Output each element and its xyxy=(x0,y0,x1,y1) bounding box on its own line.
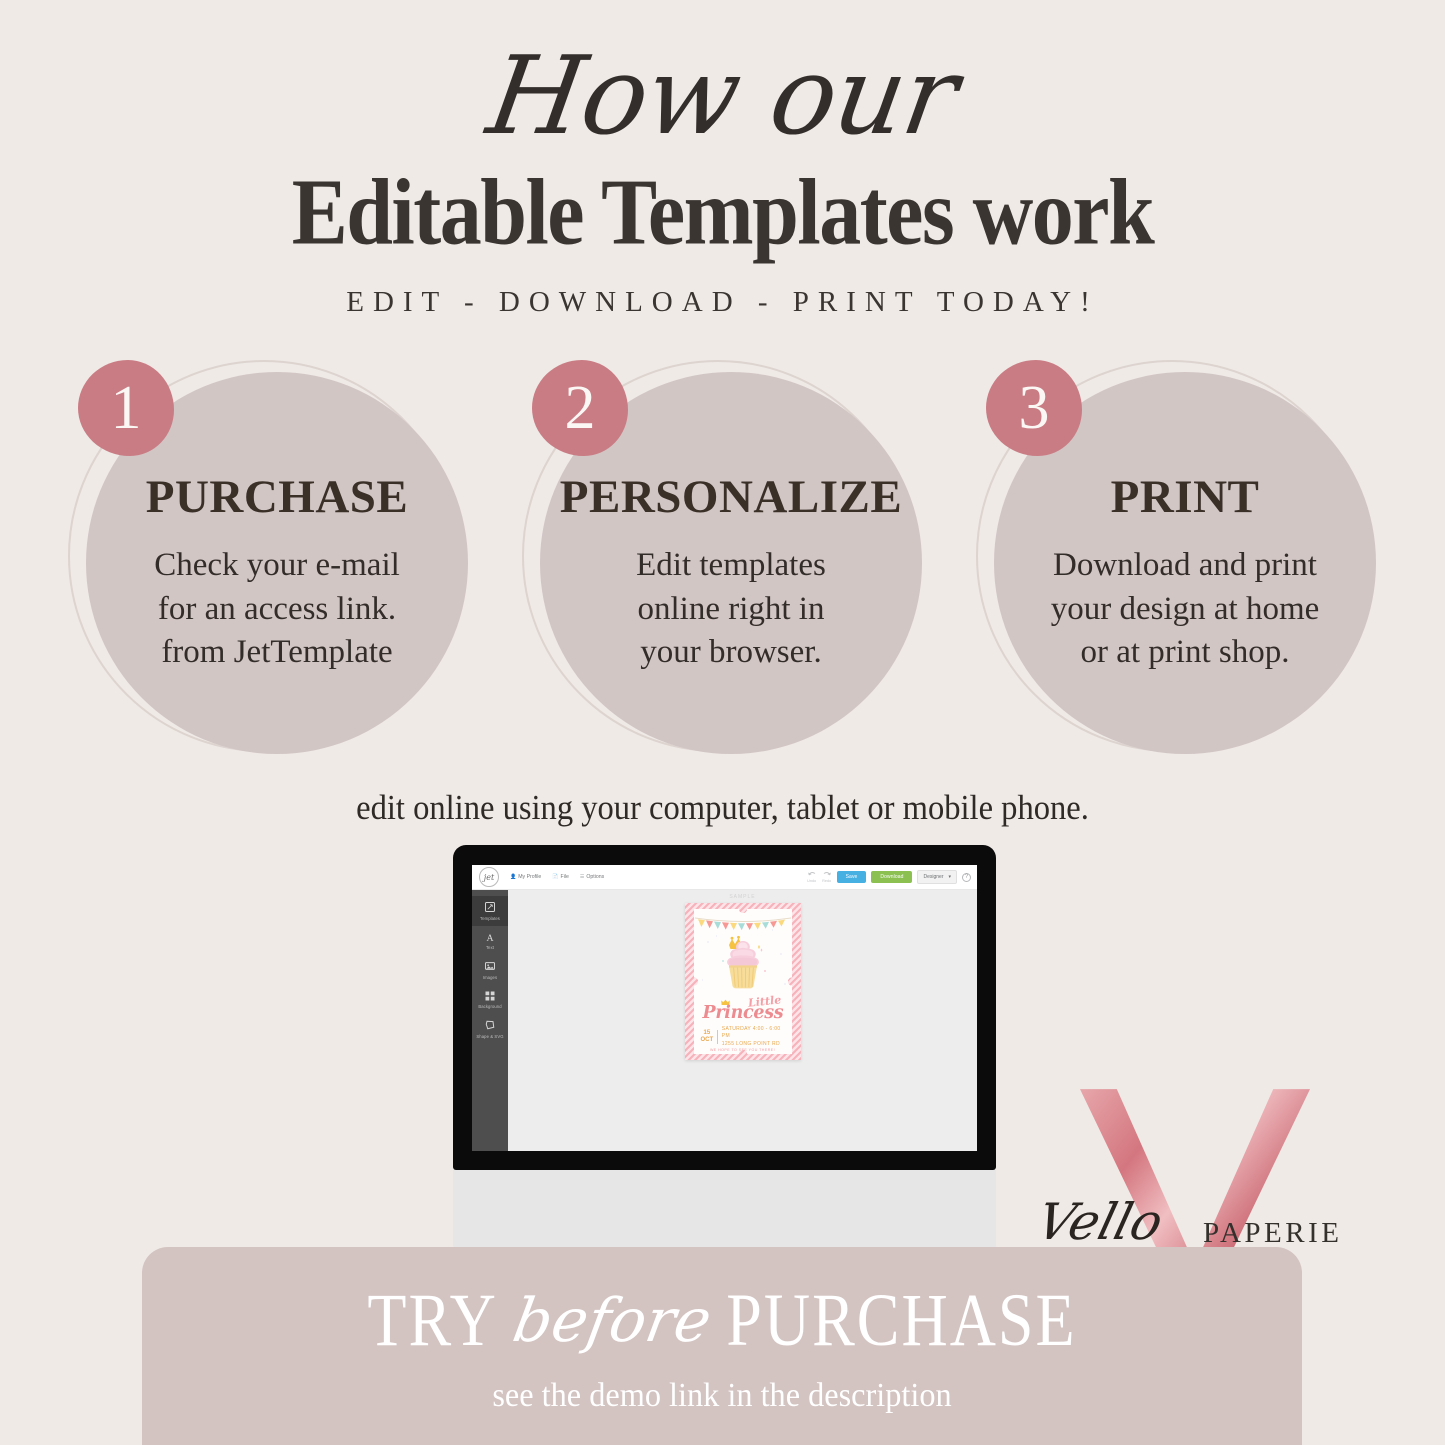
step-number-badge-1: 1 xyxy=(78,360,174,456)
step-description-2: Edit templates online right in your brow… xyxy=(636,544,826,675)
sidebar-label: Text xyxy=(486,945,494,950)
images-icon xyxy=(484,960,496,972)
step-desc-line: online right in xyxy=(636,588,826,632)
shape-svg-icon xyxy=(484,1019,496,1031)
page-title: Editable Templates work xyxy=(0,158,1445,267)
menu-label: File xyxy=(561,874,569,880)
bunting-icon xyxy=(694,916,792,932)
bottom-banner: TRY before PURCHASE see the demo link in… xyxy=(142,1247,1302,1445)
step-desc-line: or at print shop. xyxy=(1051,631,1320,675)
card-date: 15 OCT xyxy=(701,1030,714,1043)
help-icon[interactable]: ? xyxy=(962,873,971,882)
banner-part-b: before xyxy=(508,1286,717,1356)
sliders-icon: ☰ xyxy=(580,874,584,880)
step-desc-line: Check your e-mail xyxy=(154,544,400,588)
step-description-3: Download and print your design at home o… xyxy=(1051,544,1320,675)
sparkle xyxy=(780,953,782,955)
menu-label: Options xyxy=(586,874,604,880)
monitor-chin xyxy=(453,1170,996,1255)
menu-options[interactable]: ☰ Options xyxy=(580,874,604,880)
banner-part-a: TRY xyxy=(367,1276,497,1363)
designer-dropdown[interactable]: Designer ▾ xyxy=(917,870,957,883)
text-icon: A xyxy=(484,931,496,943)
banner-headline: TRY before PURCHASE xyxy=(142,1283,1302,1357)
menu-file[interactable]: 📄 File xyxy=(552,874,569,880)
step-number-badge-2: 2 xyxy=(532,360,628,456)
chevron-down-icon: ▾ xyxy=(948,874,951,880)
sidebar-label: Templates xyxy=(480,916,500,921)
sidebar-label: Background xyxy=(478,1004,501,1009)
save-button[interactable]: Save xyxy=(837,871,867,884)
sparkle xyxy=(702,979,704,981)
undo-label: Undo xyxy=(807,879,816,883)
brand-script: Vello xyxy=(978,1193,1222,1251)
jet-logo-icon[interactable]: jet xyxy=(479,867,499,887)
step-desc-line: Edit templates xyxy=(636,544,826,588)
step-number-badge-3: 3 xyxy=(986,360,1082,456)
banner-subtitle: see the demo link in the description xyxy=(171,1377,1273,1415)
card-detail-lines: SATURDAY 4:00 - 6:00 PM 1255 LONG POINT … xyxy=(722,1026,785,1048)
steps-row: 1 PURCHASE Check your e-mail for an acce… xyxy=(0,360,1445,760)
sidebar-item-templates[interactable]: Templates xyxy=(472,896,508,926)
redo-button[interactable]: Redo xyxy=(822,871,832,883)
invitation-card-inner: Little Princess 15 OCT SATURDAY 4:00 - xyxy=(694,909,792,1054)
monitor-mockup: jet 👤 My Profile 📄 File ☰ Options xyxy=(453,845,996,1265)
step-desc-line: Download and print xyxy=(1051,544,1320,588)
step-desc-line: your browser. xyxy=(636,631,826,675)
editor-screen: jet 👤 My Profile 📄 File ☰ Options xyxy=(472,865,977,1151)
sidebar-label: Shape & SVG xyxy=(476,1034,503,1039)
step-title-1: PURCHASE xyxy=(146,470,409,524)
menu-my-profile[interactable]: 👤 My Profile xyxy=(510,874,541,880)
step-desc-line: your design at home xyxy=(1051,588,1320,632)
step-card-2: 2 PERSONALIZE Edit templates online righ… xyxy=(522,360,922,760)
editor-sidebar: Templates A Text Images xyxy=(472,890,508,1151)
designer-label: Designer xyxy=(923,874,943,880)
banner-part-c: PURCHASE xyxy=(726,1276,1076,1363)
step-card-1: 1 PURCHASE Check your e-mail for an acce… xyxy=(68,360,468,760)
card-date-month: OCT xyxy=(701,1037,714,1044)
menu-label: My Profile xyxy=(518,874,541,880)
header-subtitle: EDIT - DOWNLOAD - PRINT TODAY! xyxy=(0,286,1445,319)
sparkle xyxy=(716,935,718,937)
svg-text:A: A xyxy=(486,932,493,942)
sparkle xyxy=(707,941,709,943)
sidebar-item-background[interactable]: Background xyxy=(472,985,508,1015)
user-icon: 👤 xyxy=(510,874,516,880)
step-title-3: PRINT xyxy=(1111,470,1260,524)
sidebar-label: Images xyxy=(483,975,497,980)
header-script-line: How our xyxy=(0,34,1445,159)
card-details: 15 OCT SATURDAY 4:00 - 6:00 PM 1255 LONG… xyxy=(701,1026,785,1048)
editor-toolbar: jet 👤 My Profile 📄 File ☰ Options xyxy=(472,865,977,890)
sidebar-item-shape-svg[interactable]: Shape & SVG xyxy=(472,1014,508,1044)
mid-caption: edit online using your computer, tablet … xyxy=(51,788,1395,828)
editor-canvas[interactable]: SAMPLE xyxy=(508,890,977,1151)
toolbar-actions: Undo Redo Save Download Designer ▾ ? xyxy=(807,870,977,883)
redo-label: Redo xyxy=(822,879,831,883)
redo-icon xyxy=(822,871,832,878)
background-icon xyxy=(484,990,496,1002)
brand-word: PAPERIE xyxy=(1203,1217,1342,1250)
sidebar-item-images[interactable]: Images xyxy=(472,955,508,985)
file-icon: 📄 xyxy=(552,874,558,880)
undo-button[interactable]: Undo xyxy=(807,871,817,883)
sparkle xyxy=(784,983,786,985)
sparkle xyxy=(772,929,774,931)
step-title-2: PERSONALIZE xyxy=(560,470,902,524)
card-detail-line-2: 1255 LONG POINT RD xyxy=(722,1041,785,1048)
step-desc-line: for an access link. xyxy=(154,588,400,632)
sidebar-item-text[interactable]: A Text xyxy=(472,926,508,956)
undo-icon xyxy=(807,871,817,878)
card-footer: WE HOPE TO SEE YOU THERE! xyxy=(694,1048,792,1052)
step-desc-line: from JetTemplate xyxy=(154,631,400,675)
card-title-big: Princess xyxy=(703,1003,784,1023)
card-divider xyxy=(717,1030,718,1044)
invitation-card[interactable]: Little Princess 15 OCT SATURDAY 4:00 - xyxy=(685,903,801,1060)
sample-watermark: SAMPLE xyxy=(729,894,755,900)
card-detail-line-1: SATURDAY 4:00 - 6:00 PM xyxy=(722,1026,785,1041)
cupcake-illustration xyxy=(715,931,771,989)
step-description-1: Check your e-mail for an access link. fr… xyxy=(154,544,400,675)
templates-icon xyxy=(484,901,496,913)
step-card-3: 3 PRINT Download and print your design a… xyxy=(976,360,1376,760)
download-button[interactable]: Download xyxy=(871,871,912,884)
card-date-day: 15 xyxy=(701,1030,714,1037)
